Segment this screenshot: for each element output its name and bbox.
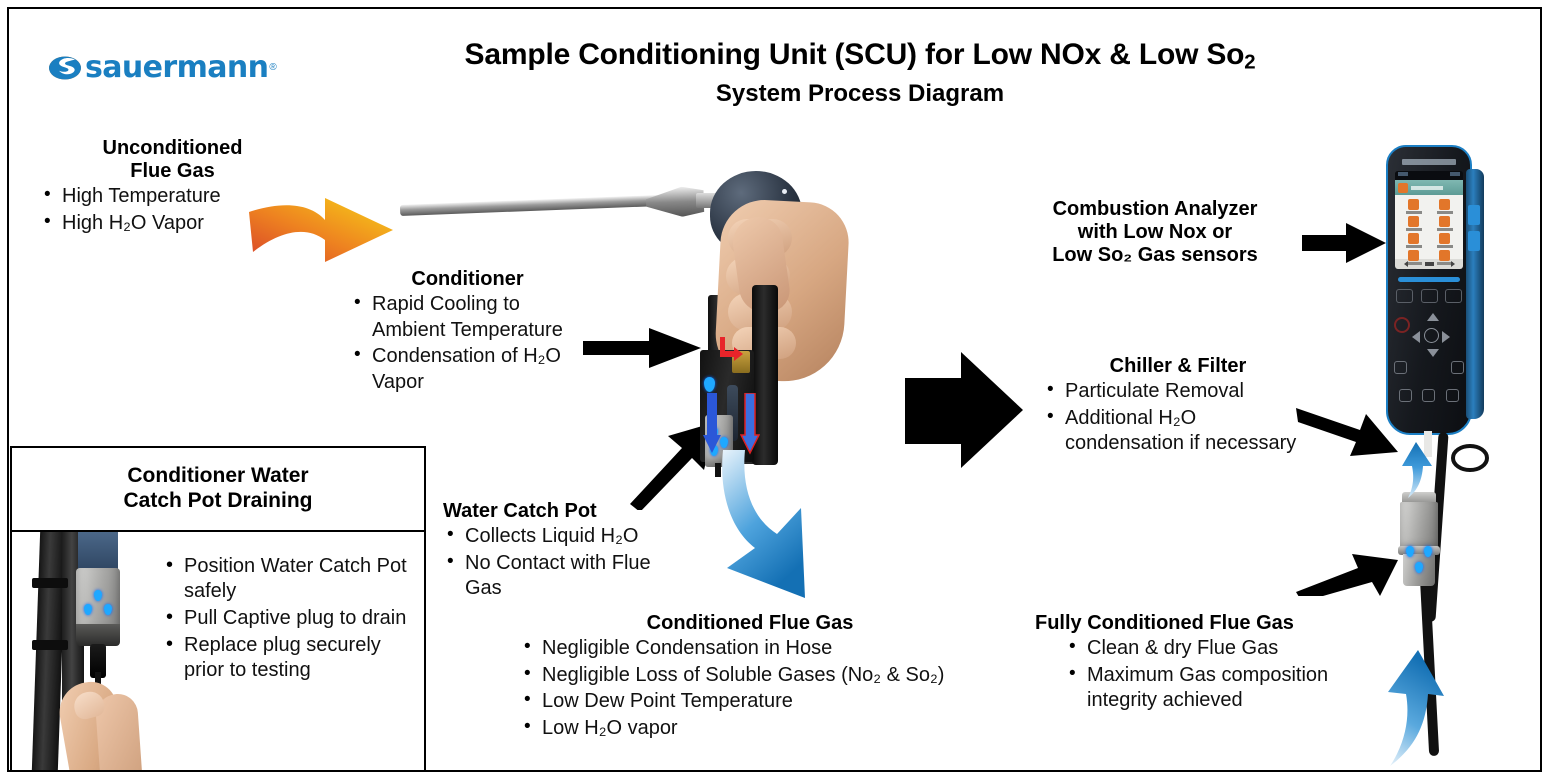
list-item: Clean & dry Flue Gas <box>1065 636 1335 662</box>
analyzer-keypad <box>1392 311 1466 383</box>
settings-button <box>1451 361 1464 374</box>
conditioned-gas-arrow-icon <box>715 450 865 625</box>
information-icon <box>1408 233 1419 244</box>
inset-panel-body: Position Water Catch Pot safely Pull Cap… <box>12 532 424 770</box>
analyzer-heading: Combustion Analyzer with Low Nox or Low … <box>1035 198 1275 268</box>
block-combustion-analyzer: Combustion Analyzer with Low Nox or Low … <box>1035 198 1275 268</box>
gas-flow-up-arrow-icon <box>1380 650 1450 768</box>
menu-cell <box>1430 199 1459 214</box>
list-item: Position Water Catch Pot safely <box>162 554 424 604</box>
diagram-canvas: sauermann ® Sample Conditioning Unit (SC… <box>0 0 1549 779</box>
inset-bullet-list: Position Water Catch Pot safely Pull Cap… <box>162 554 424 685</box>
list-item: Pull Captive plug to drain <box>162 606 424 631</box>
probe-tube <box>400 195 660 216</box>
screen-nav-bar <box>1395 259 1463 269</box>
analyzer-bottom-row <box>1394 389 1464 402</box>
restore-icon <box>1439 250 1450 261</box>
registered-mark: ® <box>269 62 276 73</box>
gas-flow-up-arrow-icon <box>1398 442 1438 500</box>
function-button <box>1394 361 1407 374</box>
flue-gas-arrow-red-icon <box>740 393 760 455</box>
screen-title-text <box>1411 186 1443 190</box>
instrument-icon <box>1439 199 1450 210</box>
probe-head-dot <box>782 189 787 194</box>
list-item: Negligible Condensation in Hose <box>520 636 980 662</box>
sauermann-logo: sauermann ® <box>48 50 277 85</box>
home-button <box>1446 389 1459 402</box>
block-water-catch-pot: Water Catch Pot Collects Liquid H₂O No C… <box>443 500 673 602</box>
transfer-arrow-icon <box>905 352 1025 470</box>
inset-panel-header: Conditioner Water Catch Pot Draining <box>12 448 424 532</box>
list-item: No Contact with Flue Gas <box>443 551 673 602</box>
block-conditioned-flue-gas: Conditioned Flue Gas Negligible Condensa… <box>520 612 980 742</box>
chevron-up-icon <box>1427 313 1439 321</box>
catchpot-bullet-list: Collects Liquid H₂O No Contact with Flue… <box>443 524 673 602</box>
esc-button <box>1448 319 1464 329</box>
inlet-arrow-icon <box>243 186 418 276</box>
gear-icon <box>1398 183 1408 193</box>
hose-band <box>32 578 68 588</box>
softkey-button <box>1421 289 1438 303</box>
menu-cell <box>1399 216 1428 231</box>
title-subscript: 2 <box>1244 51 1255 73</box>
cooling-arrow-blue-icon <box>702 393 722 455</box>
menu-cell <box>1430 216 1459 231</box>
sauermann-logo-text: sauermann <box>85 50 268 85</box>
fully-conditioned-arrow-icon <box>1296 546 1400 596</box>
chevron-right-icon <box>1442 331 1450 343</box>
dpad <box>1412 313 1450 357</box>
block-chiller-filter: Chiller & Filter Particulate Removal Add… <box>1043 355 1313 457</box>
list-item: Negligible Loss of Soluble Gases (No₂ & … <box>520 663 980 689</box>
softkey-button <box>1445 289 1462 303</box>
inset-heading: Conditioner Water Catch Pot Draining <box>123 464 312 514</box>
analyzer-brand-mark <box>1402 159 1456 165</box>
fully-conditioned-bullet-list: Clean & dry Flue Gas Maximum Gas composi… <box>1035 636 1335 714</box>
chiller-bullet-list: Particulate Removal Additional H₂O conde… <box>1043 379 1313 457</box>
diagnostic-icon <box>1439 233 1450 244</box>
ok-button <box>1424 328 1439 343</box>
inset-panel-conditioner-draining: Conditioner Water Catch Pot Draining <box>10 446 426 772</box>
page-subtitle: System Process Diagram <box>330 80 1390 108</box>
list-item: Low Dew Point Temperature <box>520 689 980 715</box>
conditioned-flue-gas-heading: Conditioned Flue Gas <box>520 612 980 635</box>
water-catch-pot-base <box>76 624 120 646</box>
list-item: Maximum Gas composition integrity achiev… <box>1065 663 1335 714</box>
sauermann-logo-mark-icon <box>48 53 82 83</box>
analyzer-side-button <box>1468 231 1480 251</box>
chiller-heading: Chiller & Filter <box>1043 355 1313 378</box>
list-item: Additional H₂O condensation if necessary <box>1043 406 1313 457</box>
print-button <box>1399 389 1412 402</box>
analyzer-screen <box>1395 171 1463 269</box>
cartridge-body <box>1400 502 1438 552</box>
hose-band <box>32 640 68 650</box>
fully-conditioned-heading: Fully Conditioned Flue Gas <box>1035 612 1335 635</box>
probe-photo <box>400 165 840 465</box>
list-item: Low H₂O vapor <box>520 716 980 742</box>
combustion-analyzer-device <box>1378 145 1488 445</box>
list-item: Replace plug securely prior to testing <box>162 633 424 683</box>
menu-cell <box>1430 233 1459 248</box>
inset-photo-draining <box>12 532 172 770</box>
chevron-left-icon <box>1412 331 1420 343</box>
screen-menu-grid <box>1395 195 1463 259</box>
unconditioned-heading: Unconditioned Flue Gas <box>40 137 305 183</box>
operator-icon <box>1408 216 1419 227</box>
language-icon <box>1408 250 1419 261</box>
list-item: Particulate Removal <box>1043 379 1313 405</box>
hot-gas-arrow-icon <box>718 337 744 367</box>
catchpot-heading: Water Catch Pot <box>443 500 673 523</box>
analyzer-blue-accent <box>1398 277 1460 282</box>
menu-cell <box>1399 199 1428 214</box>
analyzer-softkey-row <box>1396 289 1462 303</box>
blue-cap <box>78 532 118 570</box>
screen-title-bar <box>1395 180 1463 195</box>
block-fully-conditioned-flue-gas: Fully Conditioned Flue Gas Clean & dry F… <box>1035 612 1335 714</box>
list-item: Collects Liquid H₂O <box>443 524 673 550</box>
save-button <box>1422 389 1435 402</box>
analyzer-arrow-icon <box>1302 222 1388 264</box>
softkey-button <box>1396 289 1413 303</box>
menu-cell <box>1399 233 1428 248</box>
alarms-icon <box>1439 216 1450 227</box>
chevron-down-icon <box>1427 349 1439 357</box>
menu-cell <box>1430 250 1459 265</box>
page-title: Sample Conditioning Unit (SCU) for Low N… <box>330 38 1390 74</box>
conditioned-flue-gas-bullet-list: Negligible Condensation in Hose Negligib… <box>520 636 980 741</box>
hose-loop <box>1448 440 1494 480</box>
chiller-filter-cartridge <box>1398 492 1444 588</box>
analysis-icon <box>1408 199 1419 210</box>
analyzer-side-button <box>1468 205 1480 225</box>
power-button-icon <box>1394 317 1410 333</box>
screen-status-bar <box>1395 171 1463 180</box>
